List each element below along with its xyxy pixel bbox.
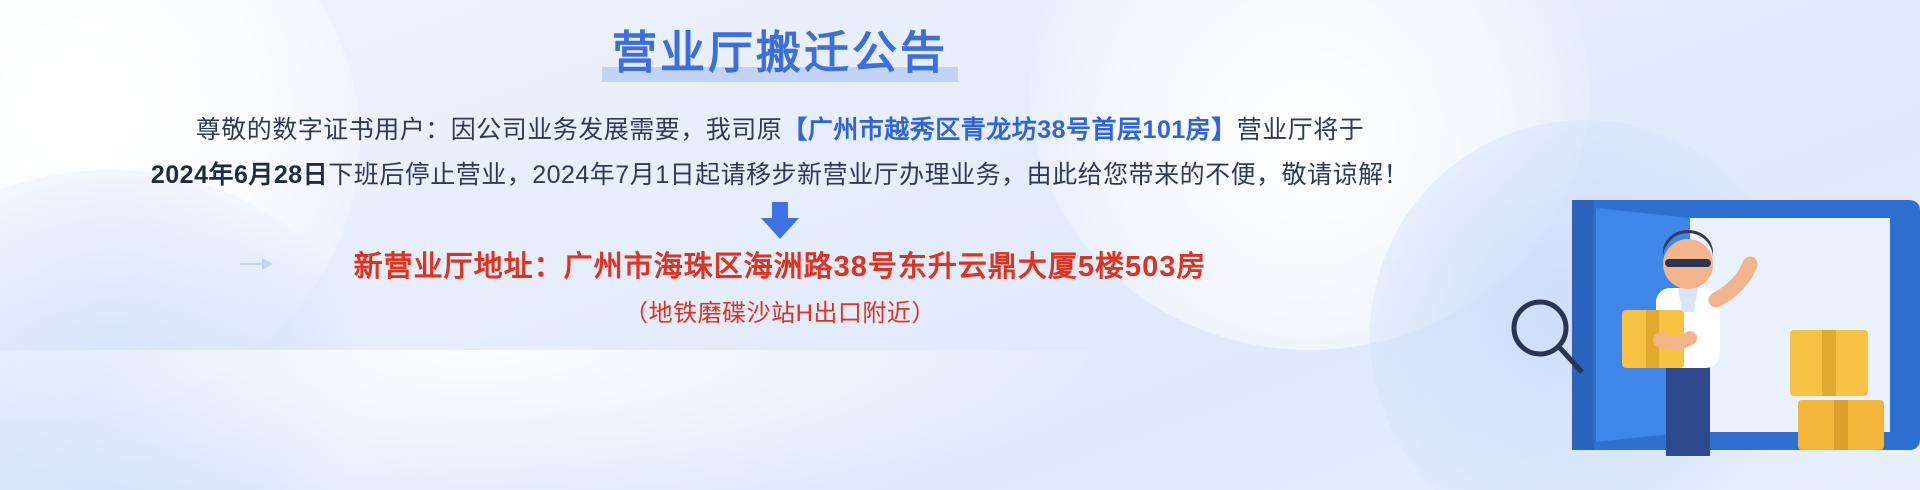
announcement-line-1-pre: 尊敬的数字证书用户：因公司业务发展需要，我司原 <box>196 116 783 144</box>
new-address-text: 新营业厅地址：广州市海珠区海洲路38号东升云鼎大厦5楼503房 <box>354 243 1207 285</box>
decor-wave <box>0 350 1200 490</box>
person-glasses <box>1665 259 1711 267</box>
truck-body-edge <box>1572 200 1594 450</box>
arrow-down-wrap <box>0 201 1560 241</box>
relocation-announcement-banner: 营业厅搬迁公告 尊敬的数字证书用户：因公司业务发展需要，我司原【广州市越秀区青龙… <box>0 0 1920 490</box>
person-holding-arm <box>1660 338 1690 343</box>
cargo-box-1-tape <box>1822 330 1836 396</box>
announcement-line-2: 2024年6月28日下班后停止营业，2024年7月1日起请移步新营业厅办理业务，… <box>0 156 1560 195</box>
close-date-text: 2024年6月28日 <box>151 161 328 189</box>
new-address-note: （地铁磨碟沙站H出口附近） <box>0 293 1560 328</box>
announcement-line-2-rest: 下班后停止营业，2024年7月1日起请移步新营业厅办理业务，由此给您带来的不便，… <box>328 161 1409 189</box>
new-address-row: 新营业厅地址：广州市海珠区海洲路38号东升云鼎大厦5楼503房 <box>0 243 1560 285</box>
arrow-down-icon <box>758 202 802 240</box>
page-title: 营业厅搬迁公告 <box>606 26 954 83</box>
page-title-wrap: 营业厅搬迁公告 <box>0 26 1560 83</box>
person-legs <box>1666 356 1710 456</box>
announcement-content: 营业厅搬迁公告 尊敬的数字证书用户：因公司业务发展需要，我司原【广州市越秀区青龙… <box>0 0 1560 328</box>
old-address-text: 【广州市越秀区青龙坊38号首层101房】 <box>782 116 1237 144</box>
announcement-line-1: 尊敬的数字证书用户：因公司业务发展需要，我司原【广州市越秀区青龙坊38号首层10… <box>0 111 1560 150</box>
cargo-box-2-tape <box>1834 400 1848 450</box>
arrow-right-small-icon <box>240 257 274 271</box>
announcement-line-1-post: 营业厅将于 <box>1237 116 1365 144</box>
page-title-text: 营业厅搬迁公告 <box>612 27 948 78</box>
